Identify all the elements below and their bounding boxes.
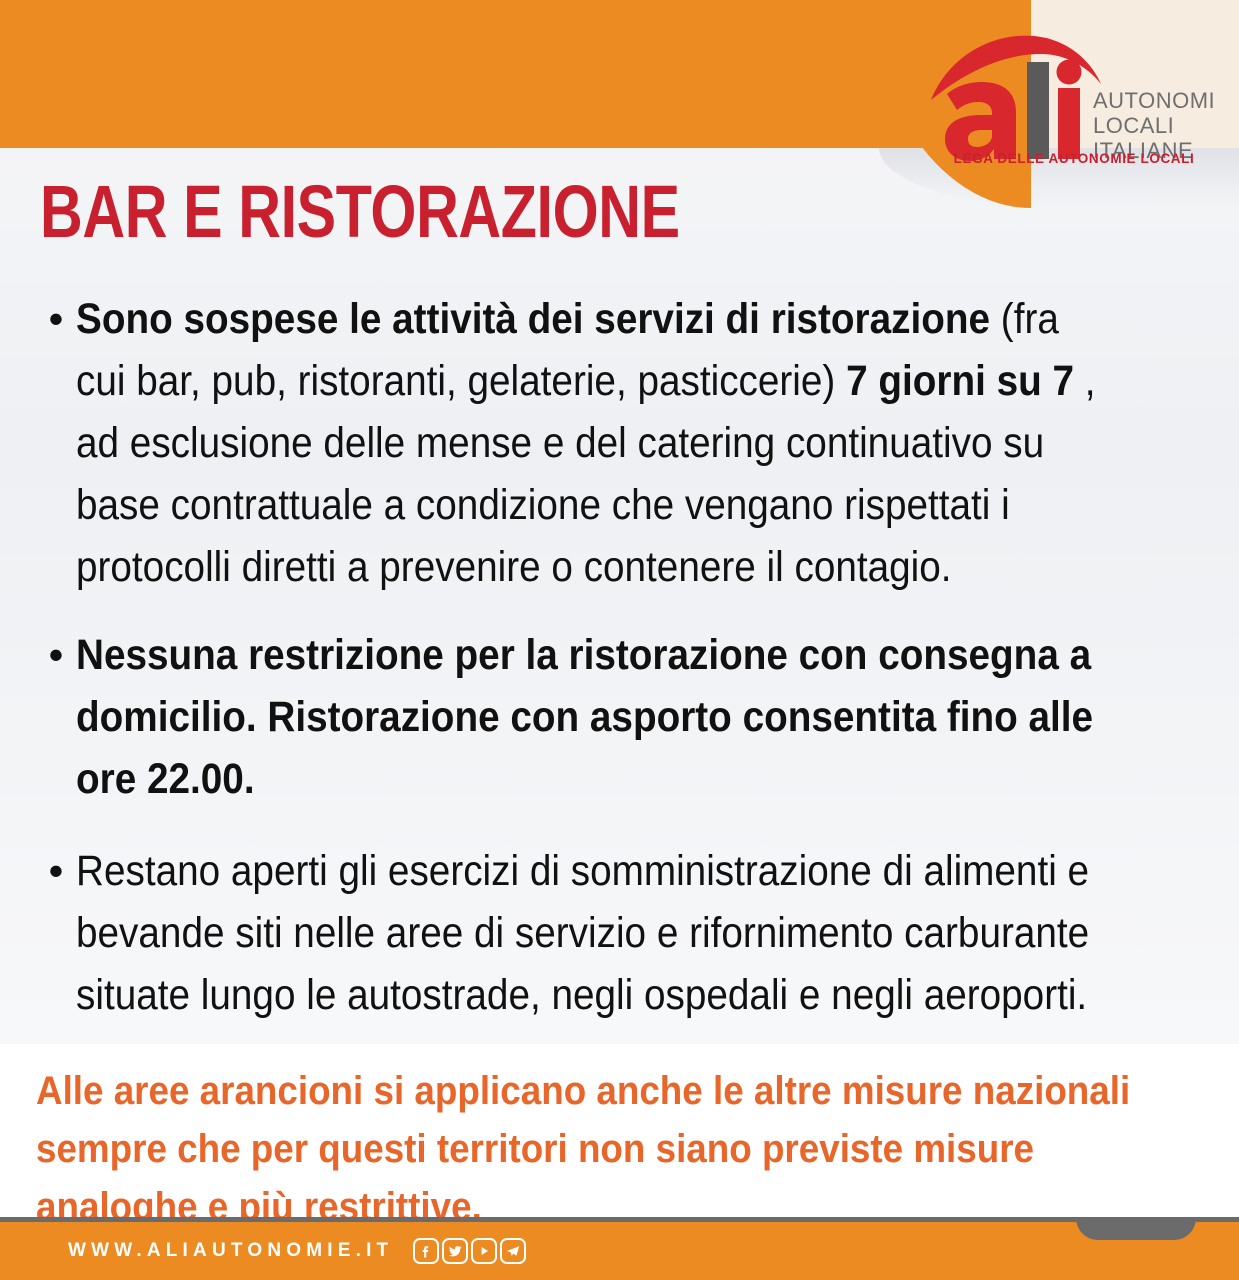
logo-tagline: LEGA DELLE AUTONOMIE LOCALI	[933, 151, 1215, 166]
facebook-icon[interactable]	[413, 1238, 439, 1264]
page-title: BAR E RISTORAZIONE	[40, 172, 680, 252]
social-links	[413, 1238, 526, 1264]
ali-logo-mark: AUTONOMIE LOCALI ITALIANE	[915, 22, 1215, 172]
bullet-3-text: Restano aperti gli esercizi di somminist…	[76, 840, 1111, 1026]
svg-text:AUTONOMIE: AUTONOMIE	[1093, 88, 1215, 113]
site-url[interactable]: WWW.ALIAUTONOMIE.IT	[68, 1240, 393, 1262]
list-item: • Restano aperti gli esercizi di sommini…	[36, 840, 1226, 1026]
header-orange-band	[0, 0, 945, 148]
list-item: • Sono sospese le attività dei servizi d…	[36, 288, 1226, 598]
bullet-dot-icon: •	[36, 840, 76, 902]
youtube-icon[interactable]	[471, 1238, 497, 1264]
list-item: • Nessuna restrizione per la ristorazion…	[36, 624, 1226, 810]
telegram-icon[interactable]	[500, 1238, 526, 1264]
bullet-1-text: Sono sospese le attività dei servizi di …	[76, 288, 1111, 598]
note-text: Alle aree arancioni si applicano anche l…	[36, 1062, 1131, 1236]
bullet-2-text: Nessuna restrizione per la ristorazione …	[76, 624, 1111, 810]
twitter-icon[interactable]	[442, 1238, 468, 1264]
svg-text:LOCALI: LOCALI	[1093, 113, 1174, 138]
bullet-list: • Sono sospese le attività dei servizi d…	[36, 288, 1226, 1052]
ali-logo: AUTONOMIE LOCALI ITALIANE LEGA DELLE AUT…	[915, 22, 1215, 172]
bullet-dot-icon: •	[36, 624, 76, 686]
bullet-dot-icon: •	[36, 288, 76, 350]
footer-content: WWW.ALIAUTONOMIE.IT	[68, 1222, 526, 1280]
bottom-gray-tab	[1076, 1217, 1196, 1240]
poster-canvas: AUTONOMIE LOCALI ITALIANE LEGA DELLE AUT…	[0, 0, 1239, 1280]
